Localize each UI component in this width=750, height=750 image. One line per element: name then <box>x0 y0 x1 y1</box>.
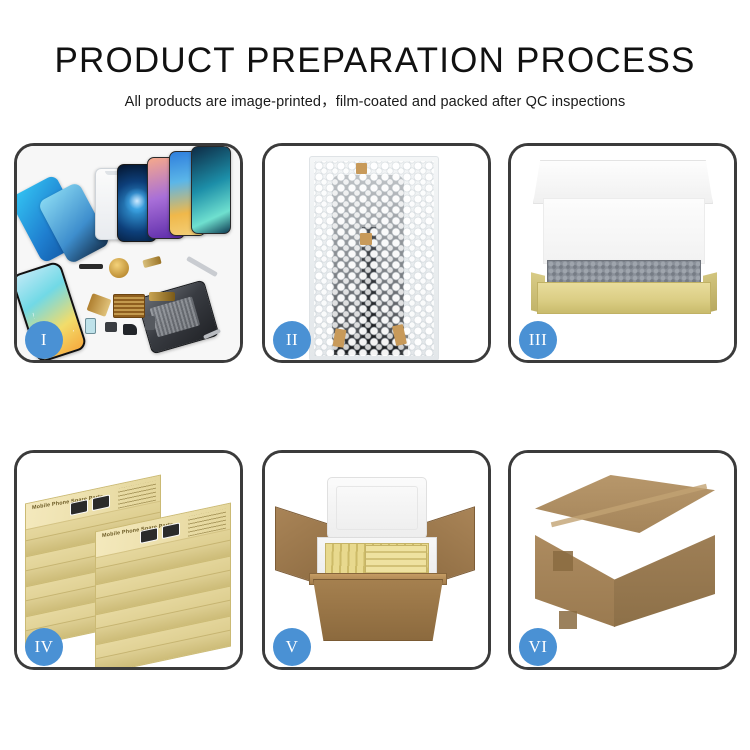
step-badge-6: VI <box>519 628 557 666</box>
step-badge-5: V <box>273 628 311 666</box>
process-step-card-5[interactable]: V <box>262 450 491 670</box>
process-step-card-2[interactable]: II <box>262 143 491 363</box>
process-step-card-1[interactable]: I <box>14 143 243 363</box>
process-step-card-6[interactable]: VI <box>508 450 737 670</box>
step-badge-4: IV <box>25 628 63 666</box>
step-badge-3: III <box>519 321 557 359</box>
process-step-grid: I II <box>14 143 738 675</box>
step-badge-1: I <box>25 321 63 359</box>
product-preparation-infographic: PRODUCT PREPARATION PROCESS All products… <box>0 0 750 750</box>
process-step-card-3[interactable]: III <box>508 143 737 363</box>
step-badge-2: II <box>273 321 311 359</box>
page-subtitle: All products are image-printed，film-coat… <box>0 90 750 111</box>
page-title: PRODUCT PREPARATION PROCESS <box>0 40 750 82</box>
process-step-card-4[interactable]: Mobile Phone Spare Parts Mobile Phone Sp… <box>14 450 243 670</box>
header: PRODUCT PREPARATION PROCESS All products… <box>0 40 750 111</box>
